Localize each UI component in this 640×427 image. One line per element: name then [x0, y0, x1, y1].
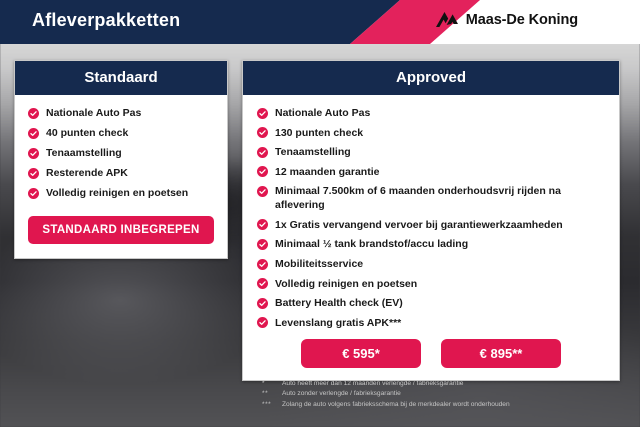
feature-item: Levenslang gratis APK*** — [257, 316, 605, 330]
feature-list-approved: Nationale Auto Pas130 punten checkTenaam… — [257, 106, 605, 330]
check-circle-icon — [257, 219, 268, 230]
card-body-standaard: Nationale Auto Pas40 punten checkTenaams… — [15, 95, 227, 258]
feature-label: Mobiliteitsservice — [275, 257, 363, 271]
card-body-approved: Nationale Auto Pas130 punten checkTenaam… — [243, 95, 619, 380]
feature-item: Mobiliteitsservice — [257, 257, 605, 271]
footnote-row-2: **Auto zonder verlengde / fabrieksgarant… — [262, 389, 622, 399]
footnote-marker: ** — [262, 389, 276, 399]
price-button-1[interactable]: € 595* — [301, 339, 421, 368]
check-circle-icon — [28, 148, 39, 159]
feature-label: Tenaamstelling — [275, 145, 351, 159]
feature-item: Tenaamstelling — [257, 145, 605, 159]
check-circle-icon — [257, 239, 268, 250]
check-circle-icon — [257, 108, 268, 119]
feature-item: 40 punten check — [28, 126, 214, 140]
footnote-marker: *** — [262, 400, 276, 410]
feature-label: 40 punten check — [46, 126, 128, 140]
check-circle-icon — [28, 128, 39, 139]
card-title-approved: Approved — [243, 61, 619, 95]
check-circle-icon — [257, 259, 268, 270]
footnotes-block: *Auto heeft meer dan 12 maanden verlengd… — [262, 379, 622, 410]
page-banner: Afleverpakketten Maas-De Koning — [0, 0, 640, 44]
feature-label: Nationale Auto Pas — [275, 106, 370, 120]
check-circle-icon — [257, 278, 268, 289]
feature-label: Nationale Auto Pas — [46, 106, 141, 120]
maas-de-koning-m-logo-icon — [435, 11, 459, 28]
feature-item: Nationale Auto Pas — [257, 106, 605, 120]
feature-label: 130 punten check — [275, 126, 363, 140]
page-title: Afleverpakketten — [32, 10, 180, 31]
check-circle-icon — [257, 166, 268, 177]
feature-item: 130 punten check — [257, 126, 605, 140]
feature-item: Nationale Auto Pas — [28, 106, 214, 120]
check-circle-icon — [28, 108, 39, 119]
footnote-text: Auto heeft meer dan 12 maanden verlengde… — [282, 379, 622, 389]
footnote-text: Zolang de auto volgens fabrieksschema bi… — [282, 400, 622, 410]
feature-item: 1x Gratis vervangend vervoer bij garanti… — [257, 218, 605, 232]
package-card-approved: Approved Nationale Auto Pas130 punten ch… — [242, 60, 620, 381]
feature-label: Battery Health check (EV) — [275, 296, 403, 310]
check-circle-icon — [257, 186, 268, 197]
feature-list-standaard: Nationale Auto Pas40 punten checkTenaams… — [28, 106, 214, 200]
price-button-row: € 595*€ 895** — [257, 339, 605, 368]
price-button-2[interactable]: € 895** — [441, 339, 561, 368]
feature-label: Volledig reinigen en poetsen — [275, 277, 417, 291]
feature-label: Resterende APK — [46, 166, 128, 180]
brand-lockup: Maas-De Koning — [435, 11, 578, 28]
standaard-inbegrepen-button[interactable]: STANDAARD INBEGREPEN — [28, 216, 214, 244]
feature-label: Levenslang gratis APK*** — [275, 316, 401, 330]
package-card-standaard: Standaard Nationale Auto Pas40 punten ch… — [14, 60, 228, 259]
feature-label: Minimaal 7.500km of 6 maanden onderhouds… — [275, 184, 605, 212]
footnote-text: Auto zonder verlengde / fabrieksgarantie — [282, 389, 622, 399]
feature-label: 12 maanden garantie — [275, 165, 379, 179]
check-circle-icon — [28, 168, 39, 179]
brand-name: Maas-De Koning — [466, 12, 578, 28]
feature-label: Volledig reinigen en poetsen — [46, 186, 188, 200]
card-title-standaard: Standaard — [15, 61, 227, 95]
feature-item: Tenaamstelling — [28, 146, 214, 160]
feature-label: 1x Gratis vervangend vervoer bij garanti… — [275, 218, 563, 232]
footnote-row-1: *Auto heeft meer dan 12 maanden verlengd… — [262, 379, 622, 389]
feature-item: Battery Health check (EV) — [257, 296, 605, 310]
feature-item: Minimaal ½ tank brandstof/accu lading — [257, 237, 605, 251]
feature-item: Resterende APK — [28, 166, 214, 180]
feature-item: Volledig reinigen en poetsen — [257, 277, 605, 291]
check-circle-icon — [28, 188, 39, 199]
feature-item: Minimaal 7.500km of 6 maanden onderhouds… — [257, 184, 605, 212]
check-circle-icon — [257, 298, 268, 309]
footnote-marker: * — [262, 379, 276, 389]
check-circle-icon — [257, 317, 268, 328]
check-circle-icon — [257, 147, 268, 158]
feature-item: 12 maanden garantie — [257, 165, 605, 179]
feature-label: Minimaal ½ tank brandstof/accu lading — [275, 237, 468, 251]
check-circle-icon — [257, 127, 268, 138]
footnote-row-3: ***Zolang de auto volgens fabrieksschema… — [262, 400, 622, 410]
feature-label: Tenaamstelling — [46, 146, 122, 160]
feature-item: Volledig reinigen en poetsen — [28, 186, 214, 200]
